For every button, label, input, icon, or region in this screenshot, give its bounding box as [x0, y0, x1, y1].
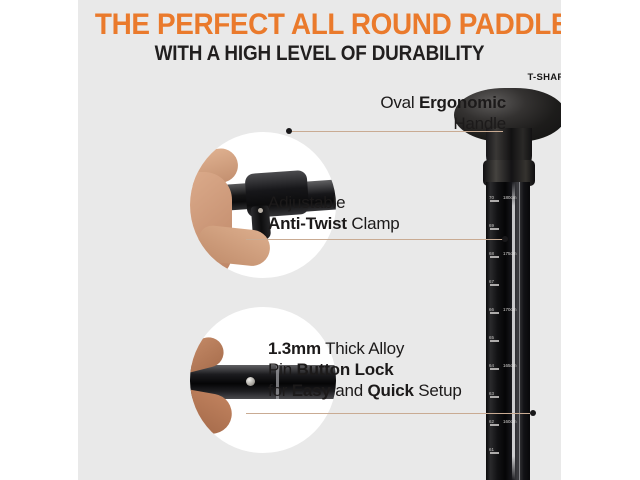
- callout-lock-for: for: [268, 381, 292, 400]
- shaft-tick-label: 62: [489, 419, 494, 424]
- page-subtitle: WITH A HIGH LEVEL OF DURABILITY: [102, 42, 537, 66]
- pin-button: [246, 377, 255, 386]
- handle-neck: [486, 128, 532, 172]
- callout-lock-material: Thick Alloy: [321, 339, 404, 358]
- leader-dot-lock: [530, 410, 536, 416]
- callout-clamp-word: Clamp: [347, 214, 400, 233]
- callout-lock-pin: Pin: [268, 360, 297, 379]
- shaft-tick-label: 67: [489, 279, 494, 284]
- shaft-tick-label-cm: 175cm: [503, 251, 517, 256]
- callout-anti-twist-clamp: Adjustable Anti-Twist Clamp: [268, 192, 488, 234]
- shaft-tick-label-cm: 170cm: [503, 307, 517, 312]
- callout-handle-ergonomic: Ergonomic: [419, 93, 506, 112]
- infographic-canvas: THE PERFECT ALL ROUND PADDLE WITH A HIGH…: [0, 0, 640, 480]
- shaft-tick: [490, 424, 499, 426]
- handle-collar: [483, 160, 535, 186]
- leader-dot-handle: [286, 128, 292, 134]
- callout-pin-button-lock: 1.3mm Thick Alloy Pin Button Lock for Ea…: [268, 338, 508, 401]
- shaft-tick-label: 70: [489, 195, 494, 200]
- callout-lock-setup: Setup: [414, 381, 462, 400]
- leader-line-clamp: [246, 239, 506, 240]
- shaft-tick: [490, 284, 499, 286]
- callout-lock-and: and: [331, 381, 368, 400]
- shaft-tick: [490, 312, 499, 314]
- callout-clamp-line2: Anti-Twist Clamp: [268, 213, 488, 234]
- tshape-handle-label: T-SHAPE HANDLE: [456, 72, 561, 83]
- callout-ergonomic-handle: Oval Ergonomic Handle: [306, 92, 506, 134]
- content-panel: THE PERFECT ALL ROUND PADDLE WITH A HIGH…: [78, 0, 561, 480]
- shaft-tick-label: 69: [489, 223, 494, 228]
- callout-lock-buttonlock: Button Lock: [297, 360, 394, 379]
- callout-clamp-line1: Adjustable: [268, 192, 488, 213]
- shaft-highlight: [512, 182, 515, 480]
- shaft-tick: [490, 200, 499, 202]
- clamp-screw: [258, 208, 263, 213]
- callout-handle-oval: Oval: [380, 93, 419, 112]
- callout-lock-easy: Easy: [292, 381, 331, 400]
- leader-line-lock: [246, 413, 534, 414]
- callout-lock-line1: 1.3mm Thick Alloy: [268, 338, 508, 359]
- callout-lock-quick: Quick: [367, 381, 413, 400]
- callout-lock-line3: for Easy and Quick Setup: [268, 380, 508, 401]
- shaft-tick-label-cm: 180cm: [503, 195, 517, 200]
- shaft-tick-label: 68: [489, 251, 494, 256]
- tshape-label-bold: T-SHAPE: [527, 72, 561, 83]
- paddle-shaft: [486, 182, 530, 480]
- callout-clamp-antitwist: Anti-Twist: [268, 214, 347, 233]
- shaft-tick-label: 66: [489, 307, 494, 312]
- page-title: THE PERFECT ALL ROUND PADDLE: [95, 10, 544, 40]
- leader-line-handle: [288, 131, 503, 132]
- callout-handle-line1: Oval Ergonomic: [306, 92, 506, 113]
- callout-lock-line2: Pin Button Lock: [268, 359, 508, 380]
- callout-lock-thickness: 1.3mm: [268, 339, 321, 358]
- shaft-tick: [490, 256, 499, 258]
- leader-dot-clamp: [502, 236, 508, 242]
- shaft-tick-label-cm: 160cm: [503, 419, 517, 424]
- shaft-tick-label: 61: [489, 447, 494, 452]
- shaft-highlight-secondary: [519, 182, 520, 480]
- shaft-tick: [490, 452, 499, 454]
- shaft-tick: [490, 228, 499, 230]
- headline-block: THE PERFECT ALL ROUND PADDLE WITH A HIGH…: [78, 10, 561, 66]
